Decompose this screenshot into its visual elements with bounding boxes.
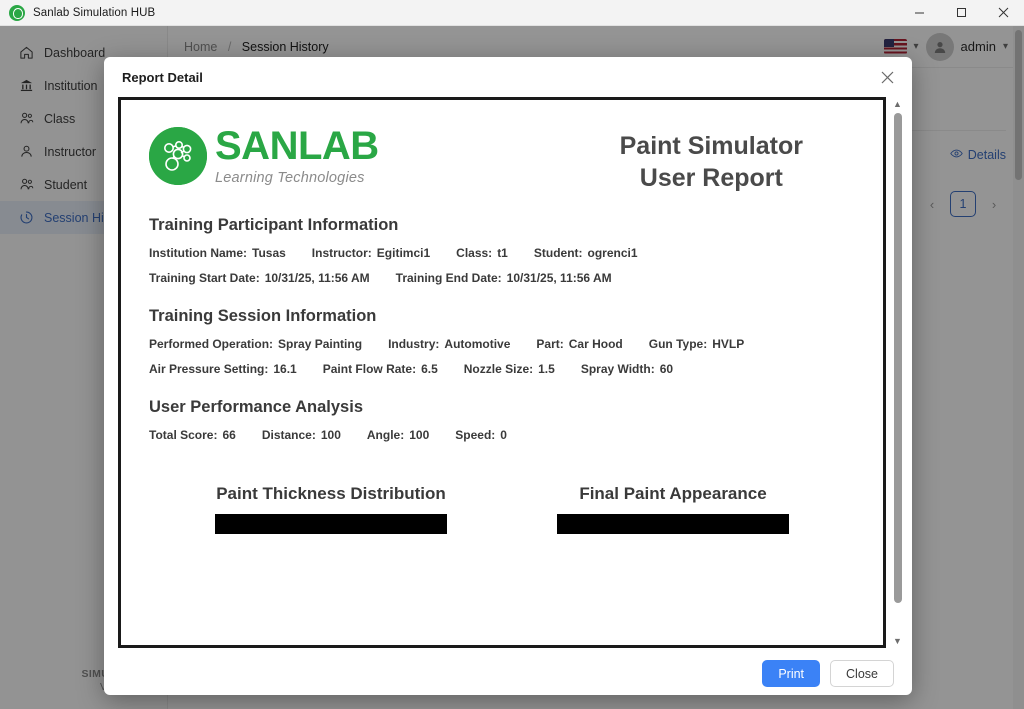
report-header: SANLAB Learning Technologies Paint Simul… xyxy=(149,118,855,194)
field-label: Nozzle Size: xyxy=(464,362,533,376)
report-content: SANLAB Learning Technologies Paint Simul… xyxy=(121,100,883,534)
field-label: Student: xyxy=(534,246,583,260)
report-title: Paint Simulator User Report xyxy=(620,118,855,194)
report-detail-modal: Report Detail xyxy=(104,57,912,695)
section-session-info: Training Session Information Performed O… xyxy=(149,307,855,376)
field-label: Paint Flow Rate: xyxy=(323,362,416,376)
field-label: Angle: xyxy=(367,428,404,442)
field-value: 100 xyxy=(409,428,429,442)
section-heading: User Performance Analysis xyxy=(149,398,855,417)
field-label: Industry: xyxy=(388,337,439,351)
window-title: Sanlab Simulation HUB xyxy=(33,7,155,19)
chart-image xyxy=(557,514,789,534)
chart-paint-thickness: Paint Thickness Distribution xyxy=(183,484,479,534)
report-scrollbar-thumb[interactable] xyxy=(894,113,902,603)
modal-title: Report Detail xyxy=(122,70,203,85)
field-label: Training Start Date: xyxy=(149,271,260,285)
chart-final-appearance: Final Paint Appearance xyxy=(479,484,821,534)
logo-tagline: Learning Technologies xyxy=(215,171,379,186)
field-label: Institution Name: xyxy=(149,246,247,260)
print-button[interactable]: Print xyxy=(762,660,820,687)
field-distance: Distance:100 xyxy=(262,428,341,442)
report-paper: SANLAB Learning Technologies Paint Simul… xyxy=(118,97,886,648)
scroll-up-icon[interactable]: ▲ xyxy=(893,97,902,111)
field-value: 10/31/25, 11:56 AM xyxy=(265,271,370,285)
field-institution-name: Institution Name:Tusas xyxy=(149,246,286,260)
field-value: Automotive xyxy=(444,337,510,351)
field-label: Gun Type: xyxy=(649,337,707,351)
field-performed-operation: Performed Operation:Spray Painting xyxy=(149,337,362,351)
logo-name: SANLAB xyxy=(215,126,379,166)
field-value: 16.1 xyxy=(273,362,296,376)
field-label: Spray Width: xyxy=(581,362,655,376)
report-title-line1: Paint Simulator xyxy=(620,130,803,162)
field-speed: Speed:0 xyxy=(455,428,507,442)
field-label: Instructor: xyxy=(312,246,372,260)
chart-heading: Final Paint Appearance xyxy=(525,484,821,504)
report-title-line2: User Report xyxy=(620,162,803,194)
field-label: Speed: xyxy=(455,428,495,442)
chart-heading: Paint Thickness Distribution xyxy=(183,484,479,504)
close-icon[interactable] xyxy=(876,66,898,88)
field-value: 60 xyxy=(660,362,673,376)
window-titlebar: Sanlab Simulation HUB xyxy=(0,0,1024,26)
field-air-pressure-setting: Air Pressure Setting:16.1 xyxy=(149,362,297,376)
report-charts: Paint Thickness Distribution Final Paint… xyxy=(149,484,855,534)
field-label: Distance: xyxy=(262,428,316,442)
section-performance-analysis: User Performance Analysis Total Score:66… xyxy=(149,398,855,442)
maximize-icon[interactable] xyxy=(940,0,982,26)
close-button[interactable]: Close xyxy=(830,660,894,687)
field-label: Part: xyxy=(536,337,563,351)
report-scrollbar-track[interactable] xyxy=(891,111,904,634)
modal-body: SANLAB Learning Technologies Paint Simul… xyxy=(104,97,912,652)
sanlab-logo-icon xyxy=(9,5,25,21)
field-value: 100 xyxy=(321,428,341,442)
sanlab-wordmark: SANLAB Learning Technologies xyxy=(215,126,379,186)
field-instructor: Instructor:Egitimci1 xyxy=(312,246,430,260)
field-value: 1.5 xyxy=(538,362,555,376)
field-training-start-date: Training Start Date:10/31/25, 11:56 AM xyxy=(149,271,370,285)
field-label: Air Pressure Setting: xyxy=(149,362,268,376)
sanlab-molecule-icon xyxy=(149,127,207,185)
field-training-end-date: Training End Date:10/31/25, 11:56 AM xyxy=(396,271,612,285)
field-value: Tusas xyxy=(252,246,286,260)
field-value: Egitimci1 xyxy=(377,246,430,260)
field-part: Part:Car Hood xyxy=(536,337,622,351)
modal-footer: Print Close xyxy=(104,652,912,695)
section-row: Institution Name:Tusas Instructor:Egitim… xyxy=(149,246,855,260)
field-label: Performed Operation: xyxy=(149,337,273,351)
field-value: HVLP xyxy=(712,337,744,351)
section-heading: Training Session Information xyxy=(149,307,855,326)
field-nozzle-size: Nozzle Size:1.5 xyxy=(464,362,555,376)
close-icon[interactable] xyxy=(982,0,1024,26)
field-label: Total Score: xyxy=(149,428,217,442)
field-value: 6.5 xyxy=(421,362,438,376)
modal-header: Report Detail xyxy=(104,57,912,97)
section-row: Total Score:66 Distance:100 Angle:100 Sp… xyxy=(149,428,855,442)
field-value: 10/31/25, 11:56 AM xyxy=(507,271,612,285)
field-value: Car Hood xyxy=(569,337,623,351)
section-heading: Training Participant Information xyxy=(149,216,855,235)
scroll-down-icon[interactable]: ▼ xyxy=(893,634,902,648)
field-label: Training End Date: xyxy=(396,271,502,285)
section-row: Training Start Date:10/31/25, 11:56 AM T… xyxy=(149,271,855,285)
field-value: ogrenci1 xyxy=(588,246,638,260)
field-paint-flow-rate: Paint Flow Rate:6.5 xyxy=(323,362,438,376)
field-gun-type: Gun Type:HVLP xyxy=(649,337,744,351)
field-spray-width: Spray Width:60 xyxy=(581,362,673,376)
field-label: Class: xyxy=(456,246,492,260)
section-row: Air Pressure Setting:16.1 Paint Flow Rat… xyxy=(149,362,855,376)
field-angle: Angle:100 xyxy=(367,428,429,442)
report-scrollbar[interactable]: ▲ ▼ xyxy=(891,97,904,648)
field-industry: Industry:Automotive xyxy=(388,337,510,351)
field-class: Class:t1 xyxy=(456,246,508,260)
sanlab-logo: SANLAB Learning Technologies xyxy=(149,118,379,186)
chart-image xyxy=(215,514,447,534)
section-participant-info: Training Participant Information Institu… xyxy=(149,216,855,285)
field-student: Student:ogrenci1 xyxy=(534,246,638,260)
minimize-icon[interactable] xyxy=(898,0,940,26)
section-row: Performed Operation:Spray Painting Indus… xyxy=(149,337,855,351)
field-value: Spray Painting xyxy=(278,337,362,351)
field-value: t1 xyxy=(497,246,508,260)
field-value: 0 xyxy=(500,428,507,442)
field-total-score: Total Score:66 xyxy=(149,428,236,442)
field-value: 66 xyxy=(222,428,235,442)
window-controls xyxy=(898,0,1024,26)
application-window: Sanlab Simulation HUB Dashboard xyxy=(0,0,1024,709)
